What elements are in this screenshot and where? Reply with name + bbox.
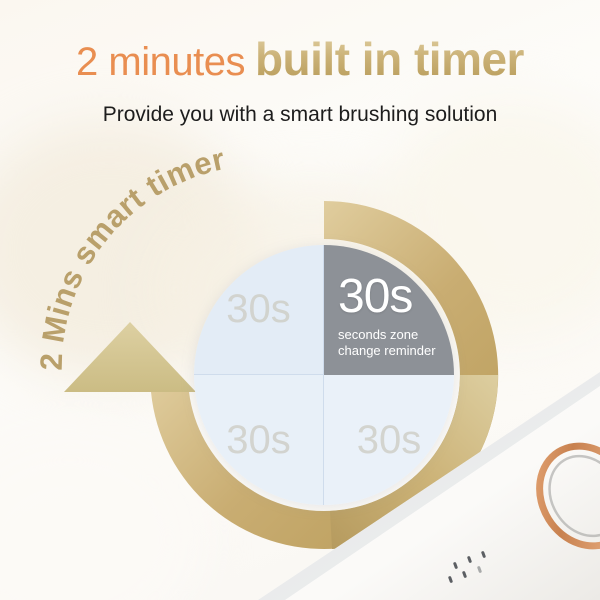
active-quadrant-content: 30s seconds zone change reminder — [338, 273, 436, 360]
timer-quadrant-bottom-right[interactable]: 30s — [324, 375, 454, 505]
active-quadrant-label: 30s — [338, 273, 436, 321]
ring-arrowhead — [64, 322, 196, 392]
timer-quadrant-bottom-left-label: 30s — [226, 418, 291, 463]
timer-quadrant-top-left[interactable]: 30s — [194, 245, 324, 375]
timer-circle: 30s 30s 30s 30s seconds zone change remi… — [194, 245, 454, 505]
timer-quadrant-bottom-left[interactable]: 30s — [194, 375, 324, 505]
timer-quadrant-bottom-right-label: 30s — [357, 418, 422, 463]
promo-banner: 2 minutesbuilt in timer Provide you with… — [0, 0, 600, 600]
timer-quadrant-top-right-active[interactable]: 30s seconds zone change reminder — [324, 245, 454, 375]
timer-quadrant-top-left-label: 30s — [226, 287, 291, 332]
active-quadrant-subline-2: change reminder — [338, 343, 436, 359]
active-quadrant-subline-1: seconds zone — [338, 327, 436, 343]
